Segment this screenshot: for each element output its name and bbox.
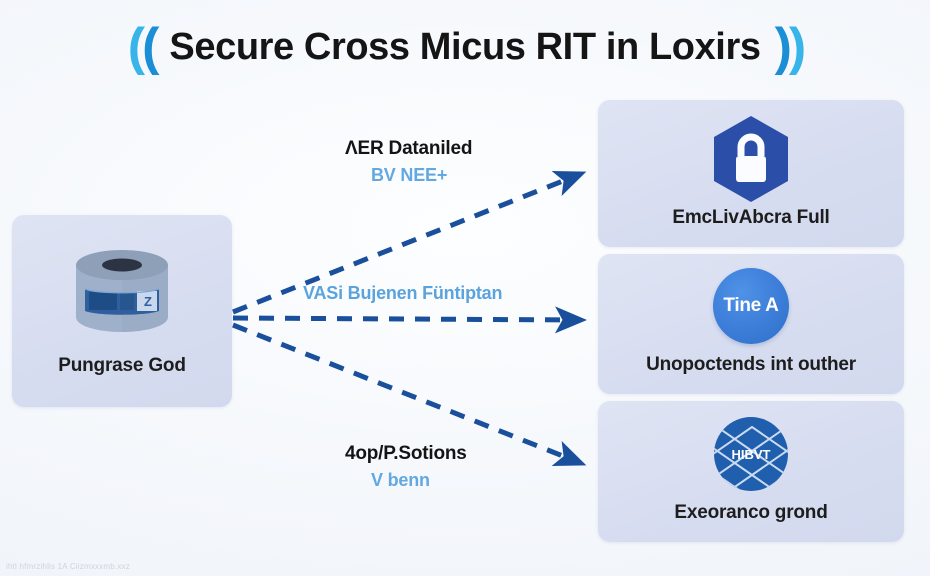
bracket-right-outer-icon: ) [789,21,802,73]
edge-path-3 [233,325,578,462]
edge-path-2 [233,318,578,320]
page-title: ( ( Secure Cross Micus RIT in Loxirs ) ) [0,16,930,78]
edge-label-2: VASi Bujenen Füntiptan [303,283,502,304]
svg-text:Z: Z [144,294,152,309]
circle-badge-text: Tine A [723,295,778,317]
bracket-left-outer-icon: ( [128,21,141,73]
target-node-label-2: Unopoctends int outher [598,354,904,376]
target-node-panel-3[interactable]: HIBVT Exeoranco grond [598,401,904,542]
edge-label-3: 4op/P.Sotions V benn [345,443,467,491]
target-node-label-1: EmcLivAbcra Full [598,207,904,229]
edge-label-3-secondary: V benn [371,470,467,491]
target-3-glyph: HIBVT [712,415,790,498]
target-node-panel-2[interactable]: Tine A Unopoctends int outher [598,254,904,394]
title-text: Secure Cross Micus RIT in Loxirs [159,26,770,69]
title-right-brackets: ) ) [775,21,803,73]
bracket-left-inner-icon: ( [142,21,155,73]
source-node-label: Pungrase God [12,355,232,377]
target-node-panel-1[interactable]: EmcLivAbcra Full [598,100,904,247]
circle-badge-icon: Tine A [713,268,789,344]
footer-note: ihtl hfmrzihlis 1A Ciizmxxxmb.xxz [6,562,130,571]
lock-hexagon-icon [708,114,794,204]
title-left-brackets: ( ( [128,21,156,73]
database-cylinder-icon: Z [68,247,176,335]
target-2-glyph: Tine A [713,268,789,344]
edge-label-2-secondary: VASi Bujenen Füntiptan [303,283,502,304]
edge-label-3-primary: 4op/P.Sotions [345,443,467,465]
edge-label-1-primary: ΛER Dataniled [345,138,472,160]
edge-label-1: ΛER Dataniled BV NEE+ [345,138,472,186]
source-node-panel[interactable]: Z Pungrase God [12,215,232,407]
globe-network-icon: HIBVT [712,415,790,493]
target-1-glyph [708,114,794,209]
edge-label-1-secondary: BV NEE+ [371,165,472,186]
target-node-label-3: Exeoranco grond [598,502,904,524]
globe-label-text: HIBVT [732,447,771,462]
bracket-right-inner-icon: ) [775,21,788,73]
diagram-canvas: ( ( Secure Cross Micus RIT in Loxirs ) ) [0,0,930,576]
